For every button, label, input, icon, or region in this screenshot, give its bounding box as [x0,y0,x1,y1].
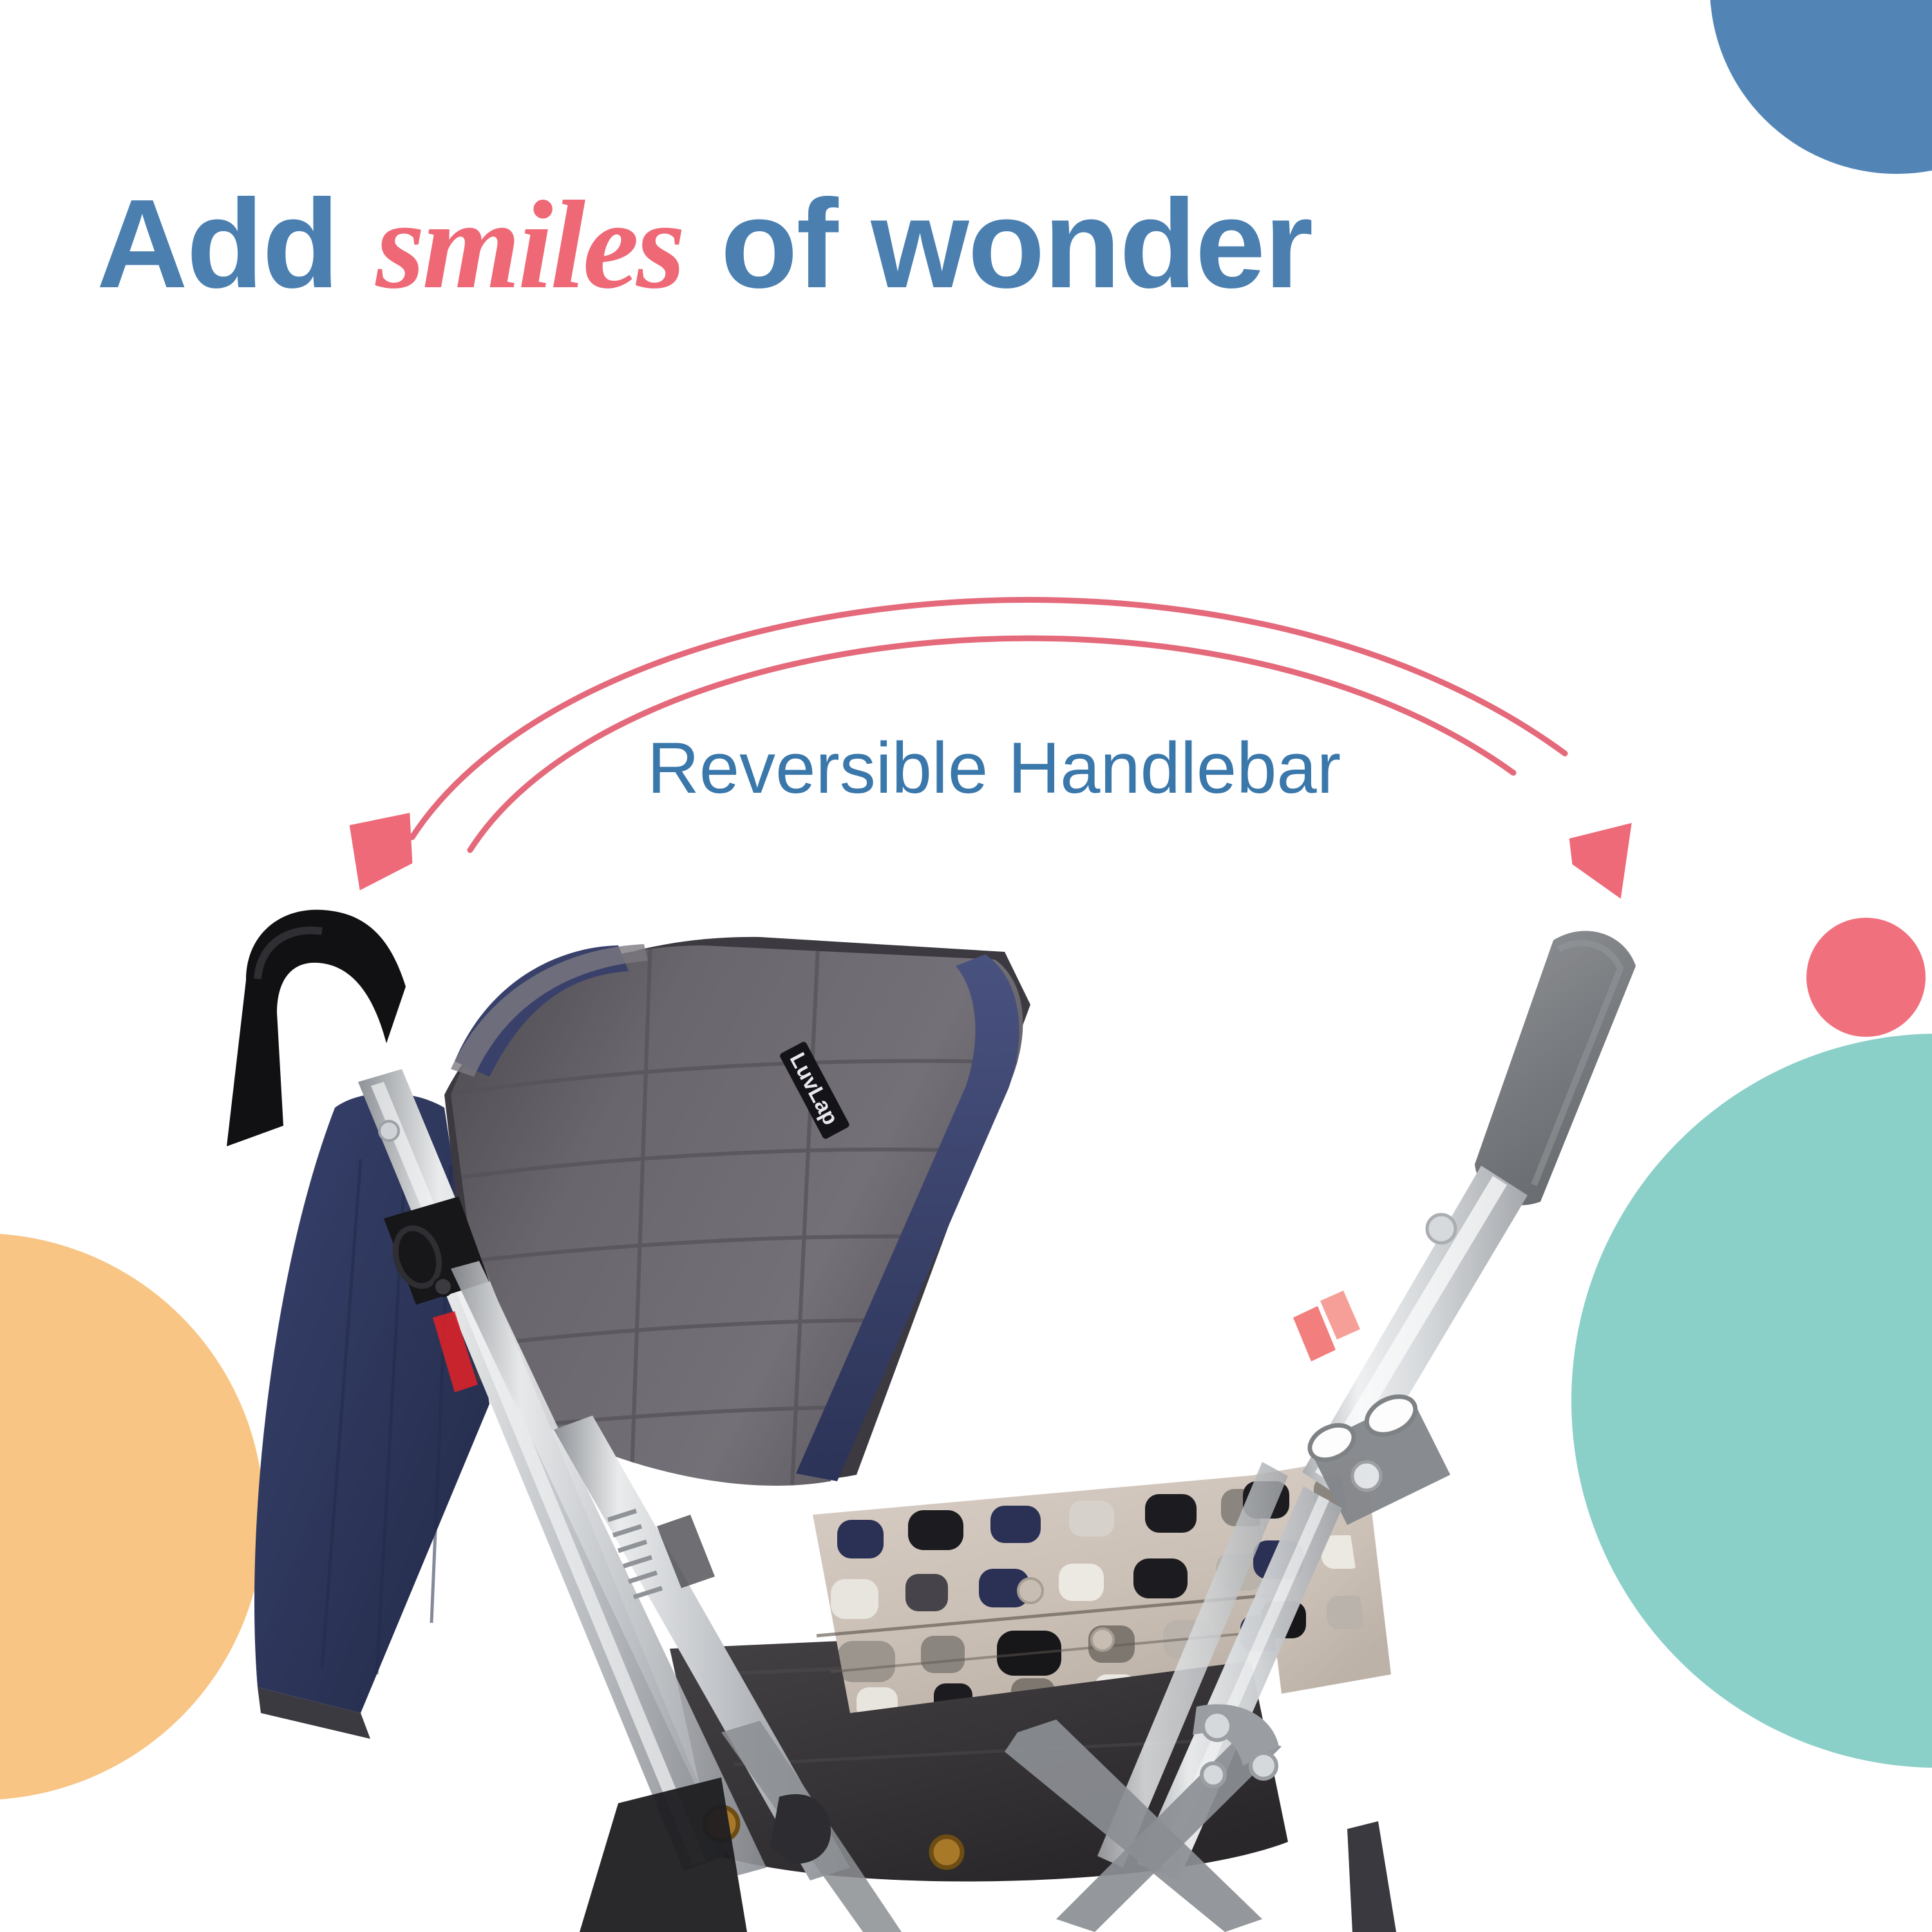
rear-canopy-panel [254,1094,489,1714]
frame-screw [931,1837,962,1868]
reversed-handlebar-grip [1475,931,1636,1205]
seat-snap-button [1092,1629,1113,1651]
rear-wheel-housing [580,1777,747,1932]
marketing-banner: LuvLap [0,0,1932,1932]
feature-label: Reversible Handlebar [647,732,1341,804]
headline-part-one: Add [97,173,338,314]
seat-snap-button [1018,1578,1043,1603]
page-title: Add smiles of wonder [97,181,1312,308]
frame-rivet [1427,1215,1455,1243]
headline-part-two: of wonder [721,173,1312,314]
headline-emphasis: smiles [372,175,687,315]
frame-rivet [379,1121,399,1141]
